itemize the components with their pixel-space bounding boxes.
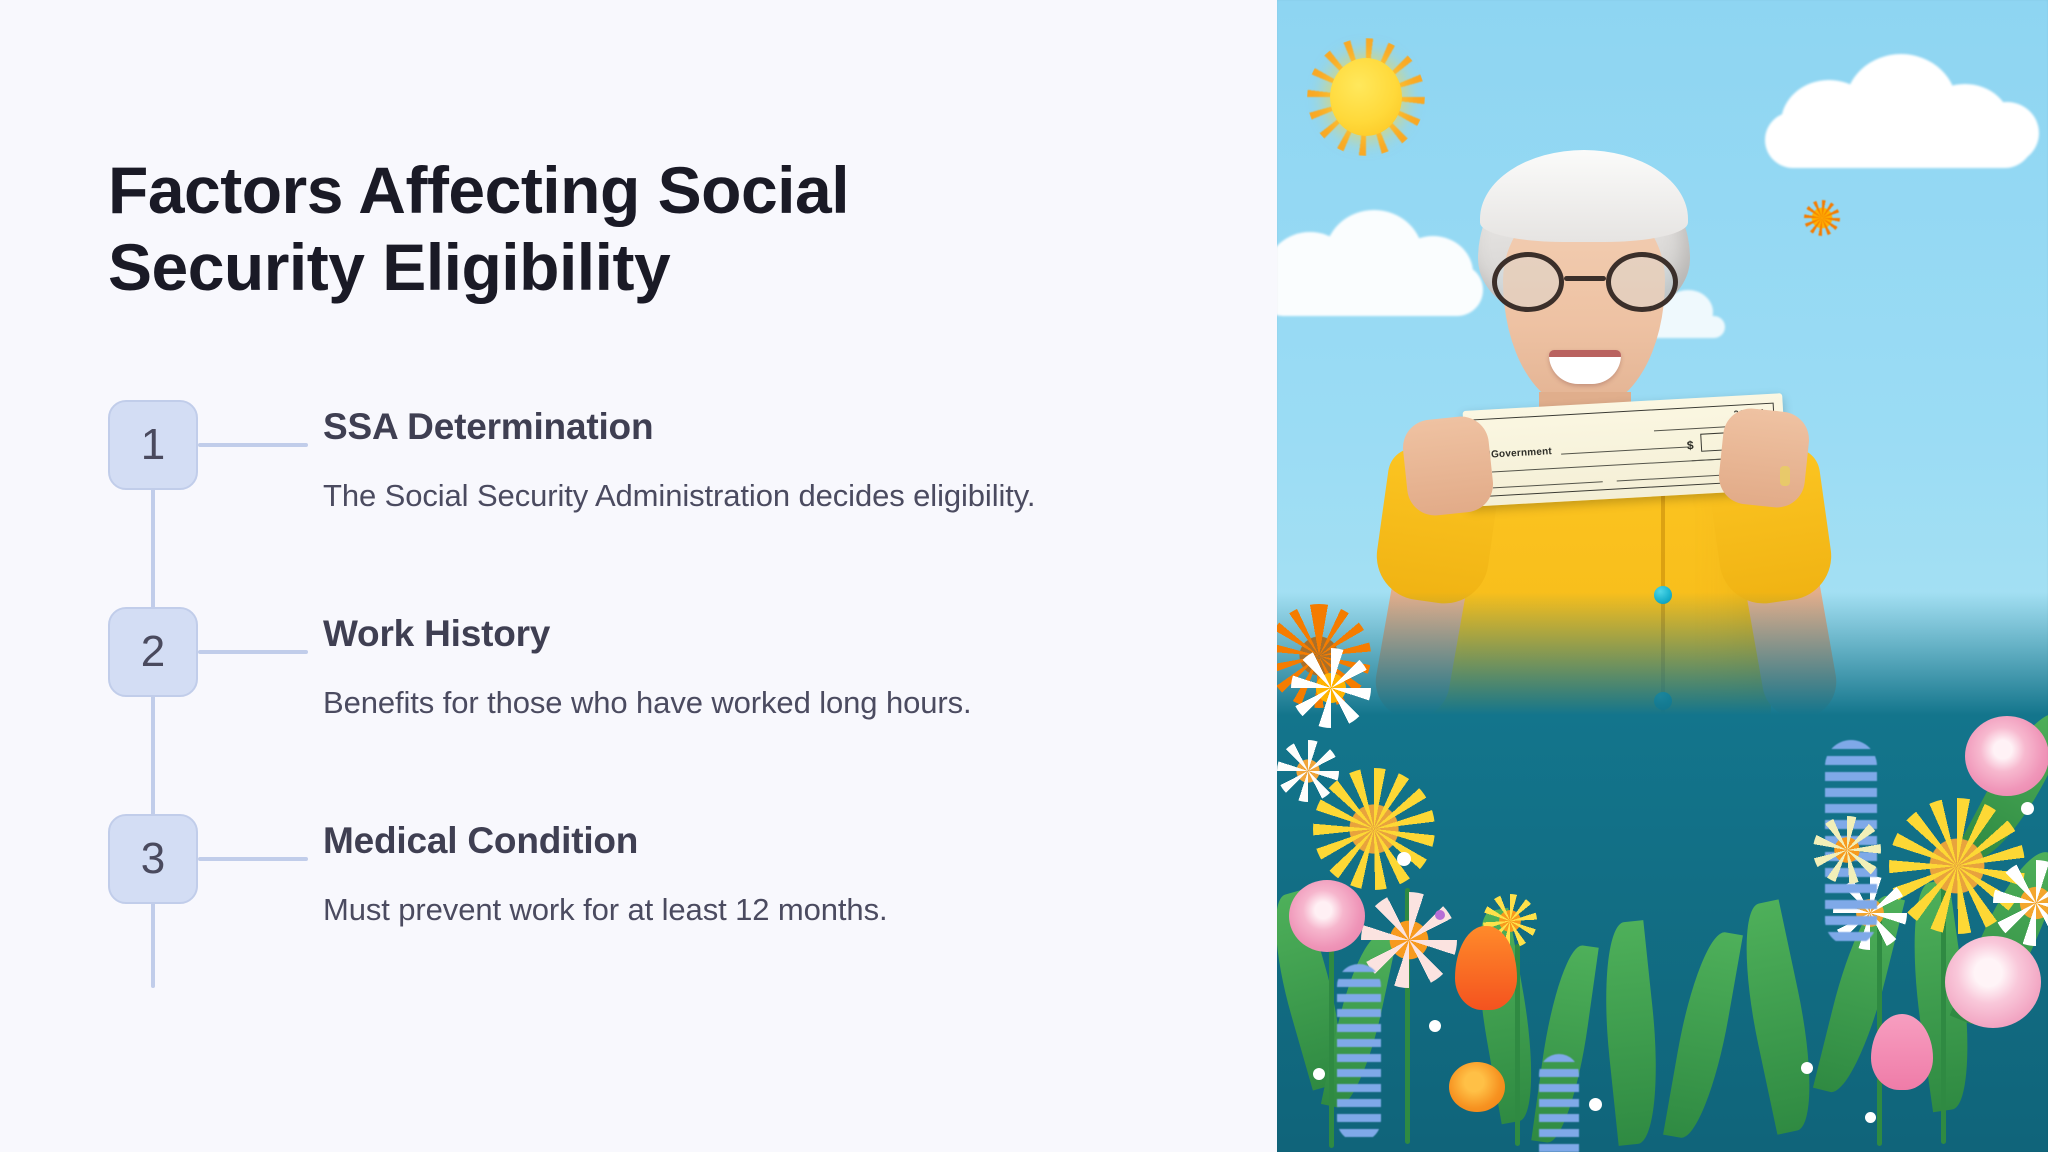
orange-flower	[1449, 1062, 1505, 1112]
step-description: Must prevent work for at least 12 months…	[323, 889, 1128, 931]
pink-rose	[1945, 936, 2041, 1028]
step-connector-line	[198, 443, 308, 447]
pink-rose	[1965, 716, 2048, 796]
step-body: Work History Benefits for those who have…	[323, 607, 1128, 724]
step-body: SSA Determination The Social Security Ad…	[323, 400, 1128, 517]
step-number-badge: 2	[108, 607, 198, 697]
bluebell-spike	[1337, 964, 1381, 1142]
right-hand	[1716, 406, 1812, 510]
page-title: Factors Affecting Social Security Eligib…	[108, 152, 1068, 306]
timeline-step[interactable]: 3 Medical Condition Must prevent work fo…	[108, 814, 1128, 931]
slide-root: Factors Affecting Social Security Eligib…	[0, 0, 2048, 1152]
step-description: The Social Security Administration decid…	[323, 475, 1128, 517]
step-heading: SSA Determination	[323, 404, 1128, 450]
timeline-step[interactable]: 2 Work History Benefits for those who ha…	[108, 607, 1128, 724]
step-connector-line	[198, 857, 308, 861]
timeline: 1 SSA Determination The Social Security …	[108, 400, 1128, 931]
white-daisy	[1291, 648, 1371, 728]
bluebell-spike	[1539, 1054, 1579, 1152]
step-description: Benefits for those who have worked long …	[323, 682, 1128, 724]
pink-rose	[1289, 880, 1365, 952]
timeline-step[interactable]: 1 SSA Determination The Social Security …	[108, 400, 1128, 517]
glasses-icon	[1492, 252, 1678, 312]
step-heading: Work History	[323, 611, 1128, 657]
hero-photo: 210111 Government $	[1277, 0, 2048, 1152]
flower-garden	[1277, 592, 2048, 1152]
step-connector-line	[198, 650, 308, 654]
step-number-badge: 3	[108, 814, 198, 904]
hair-front	[1480, 150, 1688, 242]
left-hand	[1400, 414, 1496, 518]
ring	[1780, 466, 1790, 486]
step-number-badge: 1	[108, 400, 198, 490]
photo-panel: 210111 Government $	[1277, 0, 2048, 1152]
step-heading: Medical Condition	[323, 818, 1128, 864]
step-body: Medical Condition Must prevent work for …	[323, 814, 1128, 931]
content-panel: Factors Affecting Social Security Eligib…	[0, 0, 1277, 1152]
white-daisy	[1277, 740, 1339, 802]
cream-daisy	[1813, 816, 1881, 884]
